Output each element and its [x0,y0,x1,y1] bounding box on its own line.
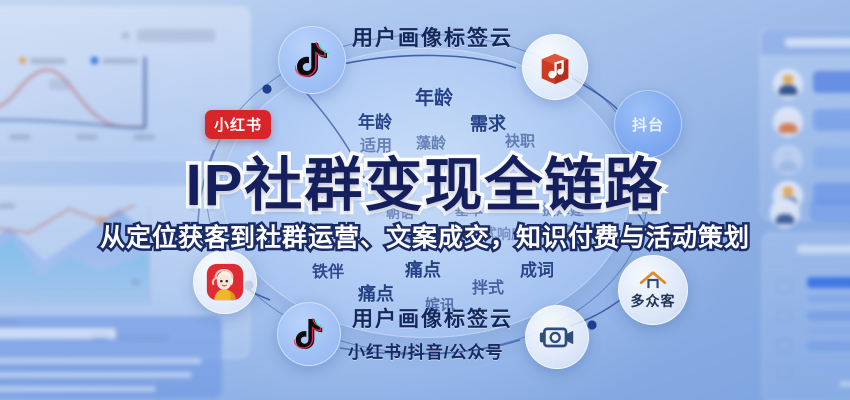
page-title: IP社群变现全链路 [0,138,850,222]
node-doutai-label: 抖台 [632,114,664,135]
tag-item: 年龄 [358,108,392,133]
tag-item: 需求 [470,110,506,136]
node-camera[interactable] [525,305,589,369]
tag-item: 痛点 [405,256,441,282]
page-subtitle: 从定位获客到社群运营、文案成交，知识付费与活动策划 [0,218,850,254]
house-icon [638,270,668,290]
music-box-icon [536,48,574,86]
xiaohongshu-badge[interactable]: 小红书 [205,110,271,139]
node-duozhongke-label: 多众客 [631,291,676,311]
heading-top: 用户画像标签云 [352,22,513,52]
poster-canvas: 年龄 年龄 需求 适用 藻龄 袂职 朝语 基本 提津建 堤牌达 维群式响应 延洽… [0,0,850,400]
xhs-avatar-icon [205,262,245,302]
node-douyin-top[interactable] [278,26,346,94]
node-music-box[interactable] [522,34,588,100]
tag-item: 成词 [520,256,554,281]
tag-item: 拌式 [472,274,504,298]
tag-item: 铁伴 [312,258,344,282]
caption-bottom: 小红书/抖音/公众号 [348,338,503,363]
tag-item: 年龄 [415,83,453,110]
tiktok-icon [295,41,329,79]
node-xhs-avatar[interactable] [193,250,257,314]
node-duozhongke[interactable]: 多众客 [618,255,688,325]
tiktok-icon [294,317,324,351]
heading-bottom: 用户画像标签云 [352,303,513,333]
camera-icon [539,323,575,351]
node-douyin-bottom[interactable] [277,302,341,366]
